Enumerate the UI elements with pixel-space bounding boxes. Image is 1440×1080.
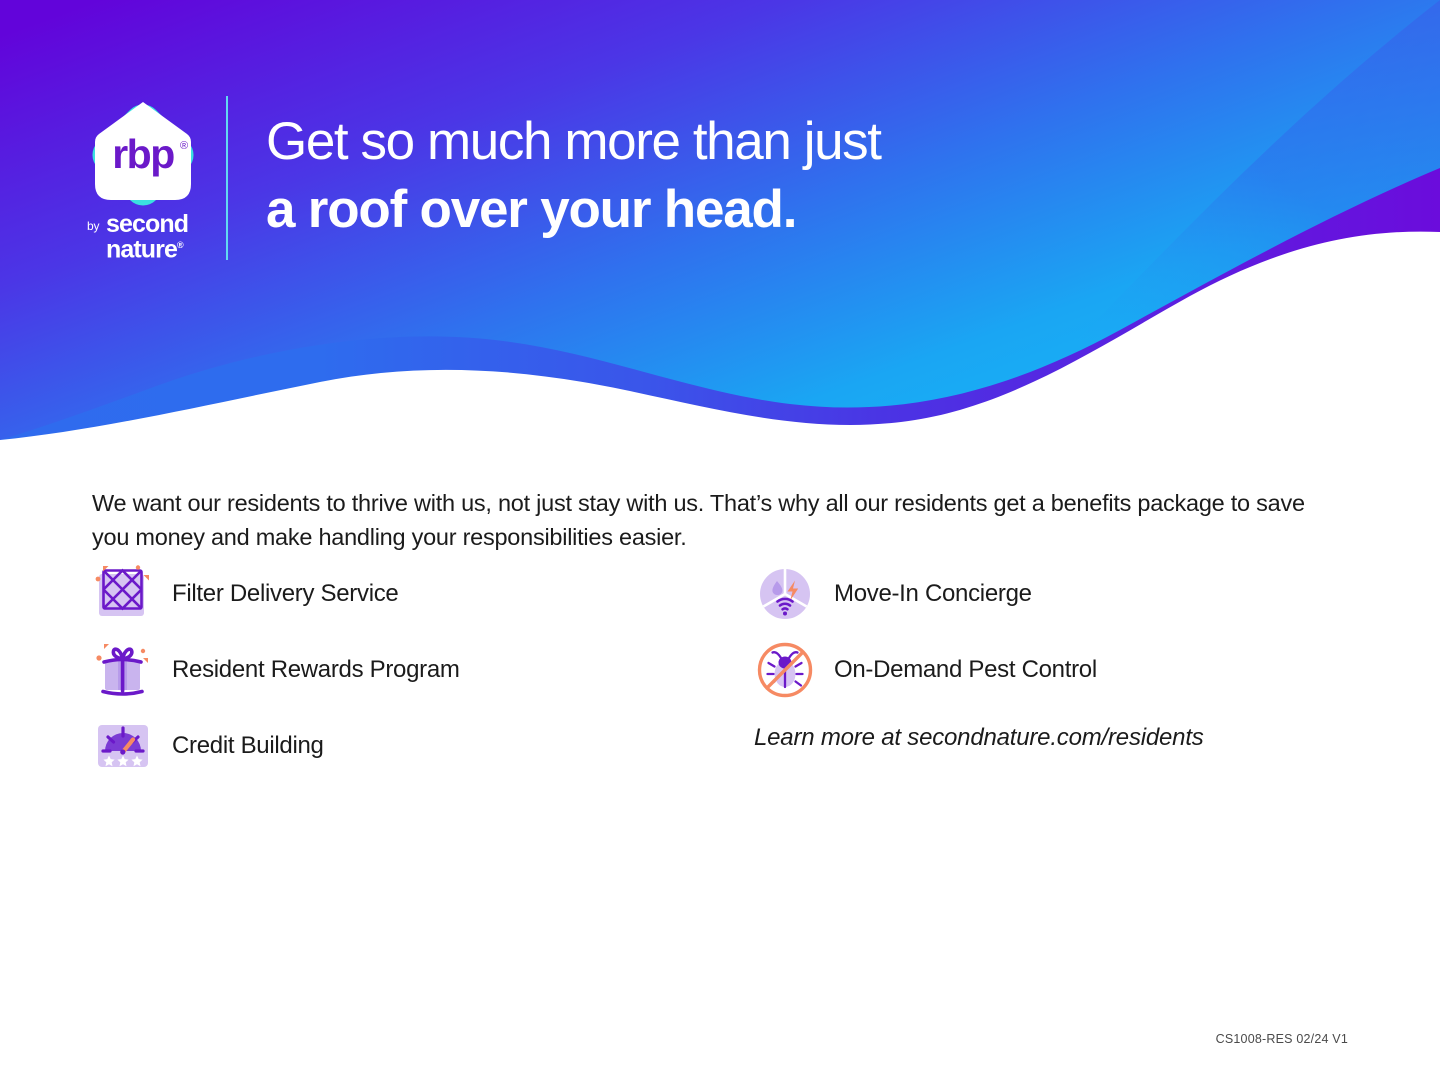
- benefit-item-pest-control: On-Demand Pest Control: [754, 632, 1374, 708]
- utilities-circle-icon: [754, 563, 816, 625]
- benefit-label: Credit Building: [172, 732, 324, 760]
- hero-headline: Get so much more than just a roof over y…: [266, 108, 1186, 244]
- benefit-label: Filter Delivery Service: [172, 580, 398, 608]
- headline-line-1: Get so much more than just: [266, 108, 1186, 176]
- header-divider: [226, 96, 228, 260]
- rbp-badge-icon: rbp ®: [84, 96, 202, 214]
- second-nature-wordmark: second nature®: [106, 214, 188, 260]
- headline-line-2: a roof over your head.: [266, 176, 1186, 244]
- benefits-column-right: Move-In Concierge: [754, 556, 1374, 708]
- benefit-item-credit-building: Credit Building: [92, 708, 712, 784]
- by-label: by: [87, 220, 99, 232]
- rbp-wordmark: rbp: [112, 131, 174, 177]
- credit-gauge-icon: [92, 715, 154, 777]
- benefit-item-resident-rewards: Resident Rewards Program: [92, 632, 712, 708]
- no-pest-icon: [754, 639, 816, 701]
- gift-box-icon: [92, 639, 154, 701]
- air-filter-icon: [92, 563, 154, 625]
- second-nature-line2: nature®: [106, 235, 188, 260]
- benefits-column-left: Filter Delivery Service: [92, 556, 712, 784]
- second-nature-registered-mark: ®: [177, 240, 183, 250]
- benefit-item-filter-delivery: Filter Delivery Service: [92, 556, 712, 632]
- parent-brand-lockup: by second nature®: [82, 214, 208, 262]
- benefit-label: Move-In Concierge: [834, 580, 1032, 608]
- hero-banner: rbp ® by second nature® Get so much more…: [0, 0, 1440, 440]
- intro-paragraph: We want our residents to thrive with us,…: [92, 486, 1307, 554]
- learn-more-text: Learn more at secondnature.com/residents: [754, 724, 1394, 752]
- benefit-label: Resident Rewards Program: [172, 656, 460, 684]
- second-nature-line1: second: [106, 214, 188, 235]
- benefit-label: On-Demand Pest Control: [834, 656, 1097, 684]
- flyer-page: rbp ® by second nature® Get so much more…: [0, 0, 1440, 1080]
- document-code: CS1008-RES 02/24 V1: [1216, 1032, 1348, 1046]
- benefit-item-move-in-concierge: Move-In Concierge: [754, 556, 1374, 632]
- rbp-registered-mark: ®: [180, 140, 188, 152]
- brand-logo-lockup: rbp ® by second nature®: [84, 96, 210, 261]
